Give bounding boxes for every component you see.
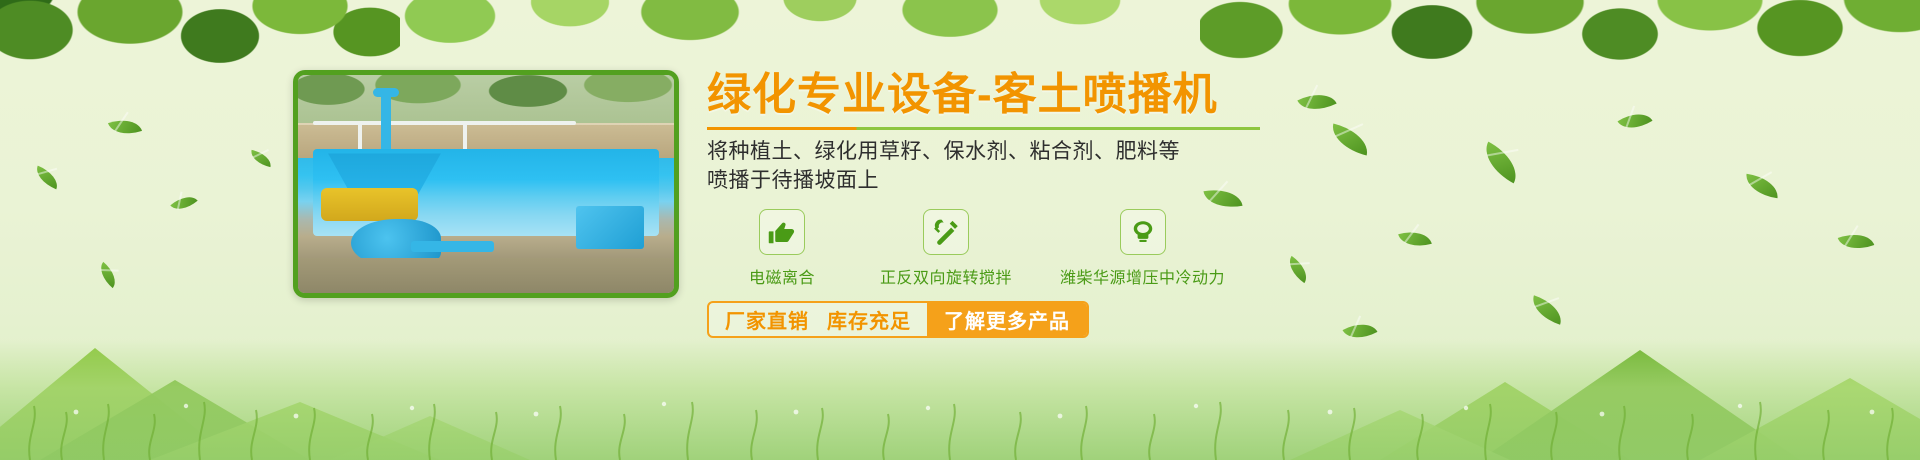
product-photo-image — [298, 75, 674, 293]
feature-item-weichai-power[interactable]: 潍柴华源增压中冷动力 — [1035, 209, 1250, 288]
learn-more-button[interactable]: 了解更多产品 — [927, 303, 1087, 336]
leaf-icon — [1477, 142, 1526, 184]
feature-label: 电磁离合 — [707, 264, 857, 288]
subtitle-line-2: 喷播于待播坡面上 — [707, 167, 1407, 195]
photo-vertical-pipe — [373, 88, 399, 97]
feature-label: 正反双向旋转搅拌 — [857, 264, 1035, 288]
feature-list: 电磁离合 正反双向旋转搅拌 — [707, 209, 1407, 288]
subtitle-block: 将种植土、绿化用草籽、保水剂、粘合剂、肥料等 喷播于待播坡面上 — [707, 138, 1407, 195]
tools-icon — [923, 209, 969, 255]
leaf-icon — [32, 166, 62, 190]
engine-icon — [1120, 209, 1166, 255]
foliage-cluster-middle — [390, 0, 1170, 70]
banner-content: 绿化专业设备-客土喷播机 将种植土、绿化用草籽、保水剂、粘合剂、肥料等 喷播于待… — [707, 72, 1407, 338]
feature-item-bidirectional-mixing[interactable]: 正反双向旋转搅拌 — [857, 209, 1035, 288]
cta-slogan-factory-direct: 厂家直销 — [725, 305, 809, 334]
leaf-icon — [108, 114, 142, 140]
cta-slogan: 厂家直销 库存充足 — [709, 303, 927, 336]
product-photo[interactable] — [293, 70, 679, 298]
feature-label: 潍柴华源增压中冷动力 — [1035, 264, 1250, 288]
page-title: 绿化专业设备-客土喷播机 — [707, 72, 1407, 118]
leaf-icon — [170, 190, 197, 216]
subtitle-line-1: 将种植土、绿化用草籽、保水剂、粘合剂、肥料等 — [707, 138, 1407, 166]
photo-control-box — [576, 206, 644, 250]
title-divider — [707, 127, 1260, 130]
feature-item-electromagnetic-clutch[interactable]: 电磁离合 — [707, 209, 857, 288]
photo-ground — [298, 258, 674, 293]
grass-blades — [0, 350, 1920, 460]
leaf-icon — [1744, 174, 1780, 199]
leaf-icon — [249, 150, 273, 167]
thumbs-up-icon — [759, 209, 805, 255]
photo-outlet-pipe — [411, 241, 494, 252]
photo-guardrail — [313, 121, 576, 125]
leaf-icon — [1618, 105, 1653, 136]
cta-bar: 厂家直销 库存充足 了解更多产品 — [707, 301, 1089, 338]
promotional-banner: 绿化专业设备-客土喷播机 将种植土、绿化用草籽、保水剂、粘合剂、肥料等 喷播于待… — [0, 0, 1920, 460]
photo-yellow-drum — [321, 188, 419, 221]
cta-slogan-stock-ample: 库存充足 — [827, 305, 911, 334]
